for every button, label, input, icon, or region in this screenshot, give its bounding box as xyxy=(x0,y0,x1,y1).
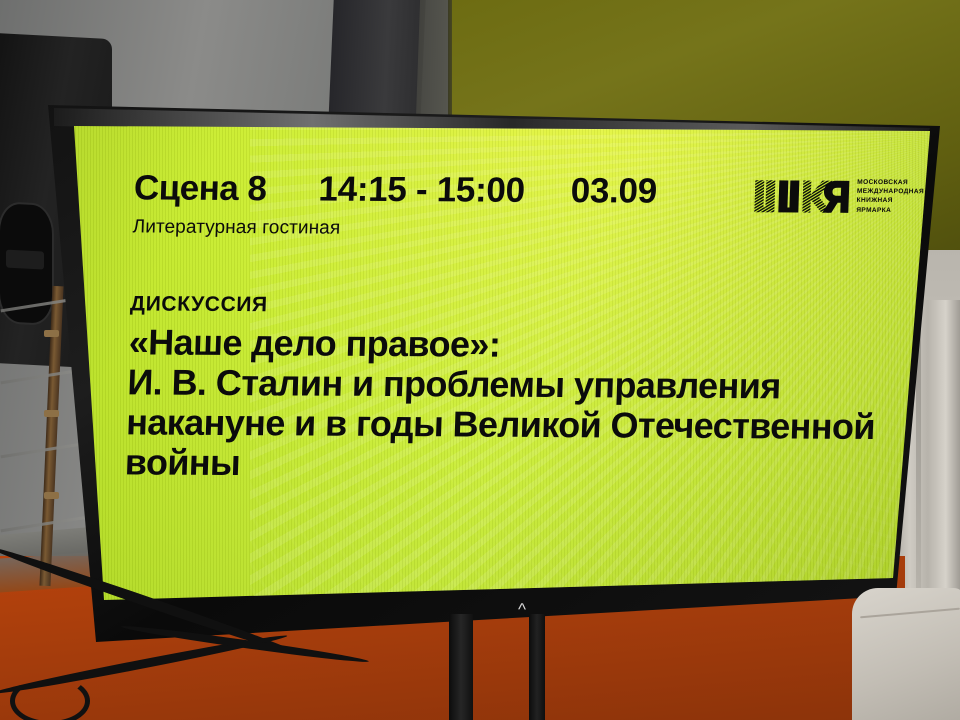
stage-label: Сцена 8 xyxy=(133,168,267,209)
event-title: «Наше дело правое»: И. В. Сталин и пробл… xyxy=(124,322,909,487)
slide-content: Сцена 8 14:15 - 15:00 03.09 Литературная… xyxy=(59,126,930,597)
seat xyxy=(852,588,960,720)
logo-word-line-2: МЕЖДУНАРОДНАЯ xyxy=(857,187,924,197)
mmky-logo: МОСКОВСКАЯ МЕЖДУНАРОДНАЯ КНИЖНАЯ ЯРМАРКА xyxy=(753,174,925,217)
tv-stand-post xyxy=(449,614,473,720)
display-screen: Сцена 8 14:15 - 15:00 03.09 Литературная… xyxy=(0,0,960,720)
venue-label: Литературная гостиная xyxy=(132,216,923,243)
mmky-logo-mark xyxy=(753,174,850,217)
cable-coil xyxy=(10,676,90,720)
event-title-line-3: накануне и в годы Великой Отечественной xyxy=(126,402,907,447)
time-range: 14:15 - 15:00 xyxy=(318,170,526,211)
event-title-line-4: войны xyxy=(124,442,905,487)
event-title-line-1: «Наше дело правое»: xyxy=(128,322,909,367)
photo-scene: Сцена 8 14:15 - 15:00 03.09 Литературная… xyxy=(0,0,960,720)
logo-word-line-1: МОСКОВСКАЯ xyxy=(857,178,924,188)
mmky-logo-words: МОСКОВСКАЯ МЕЖДУНАРОДНАЯ КНИЖНАЯ ЯРМАРКА xyxy=(856,175,924,215)
event-kicker: ДИСКУССИЯ xyxy=(130,292,268,317)
event-title-line-2: И. В. Сталин и проблемы управления xyxy=(127,362,908,407)
tv-stand-post-secondary xyxy=(529,614,545,720)
date-label: 03.09 xyxy=(570,171,657,212)
logo-word-line-4: ЯРМАРКА xyxy=(856,205,923,215)
logo-word-line-3: КНИЖНАЯ xyxy=(856,196,923,206)
